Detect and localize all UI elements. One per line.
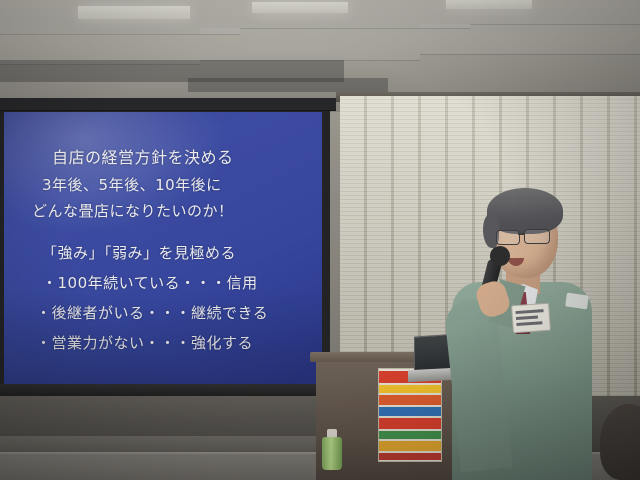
- badge-text-line: [515, 309, 543, 314]
- slide-line: 自店の経営方針を決める: [52, 144, 234, 168]
- eyeglasses-right-lens: [524, 229, 550, 244]
- poster-color-band: [379, 441, 441, 451]
- ceiling-shadow-strip: [188, 78, 388, 92]
- badge-text-line: [516, 316, 538, 321]
- poster-color-band: [379, 431, 441, 439]
- photograph: 自店の経営方針を決める3年後、5年後、10年後にどんな畳店になりたいのか！「強み…: [0, 0, 640, 480]
- eyeglasses-bridge: [518, 233, 525, 235]
- jacket-pocket-patch: [565, 293, 589, 310]
- badge-text-line: [516, 321, 542, 326]
- slide-line: どんな畳店になりたいのか！: [32, 200, 234, 221]
- poster-color-band: [379, 418, 441, 429]
- poster-color-band: [379, 407, 441, 416]
- projection-screen-top-bar: [0, 98, 336, 111]
- ceiling-panel: [200, 28, 420, 61]
- slide-line: 3年後、5年後、10年後に: [42, 174, 222, 195]
- handheld-microphone-head: [490, 246, 510, 266]
- green-tea-bottle: [322, 437, 342, 470]
- poster-color-band: [379, 453, 441, 460]
- eyeglasses-left-lens: [496, 230, 520, 245]
- slide-shading: [4, 289, 322, 384]
- slide-line: 「強み」「弱み」を見極める: [42, 242, 236, 263]
- name-badge: [511, 303, 551, 334]
- ceiling-light: [446, 0, 532, 9]
- ceiling-light: [78, 6, 190, 19]
- poster-color-band: [379, 385, 441, 393]
- ceiling-panel: [420, 24, 640, 55]
- projection-screen: 自店の経営方針を決める3年後、5年後、10年後にどんな畳店になりたいのか！「強み…: [4, 112, 322, 384]
- poster-color-band: [379, 395, 441, 405]
- ceiling-light: [252, 2, 348, 13]
